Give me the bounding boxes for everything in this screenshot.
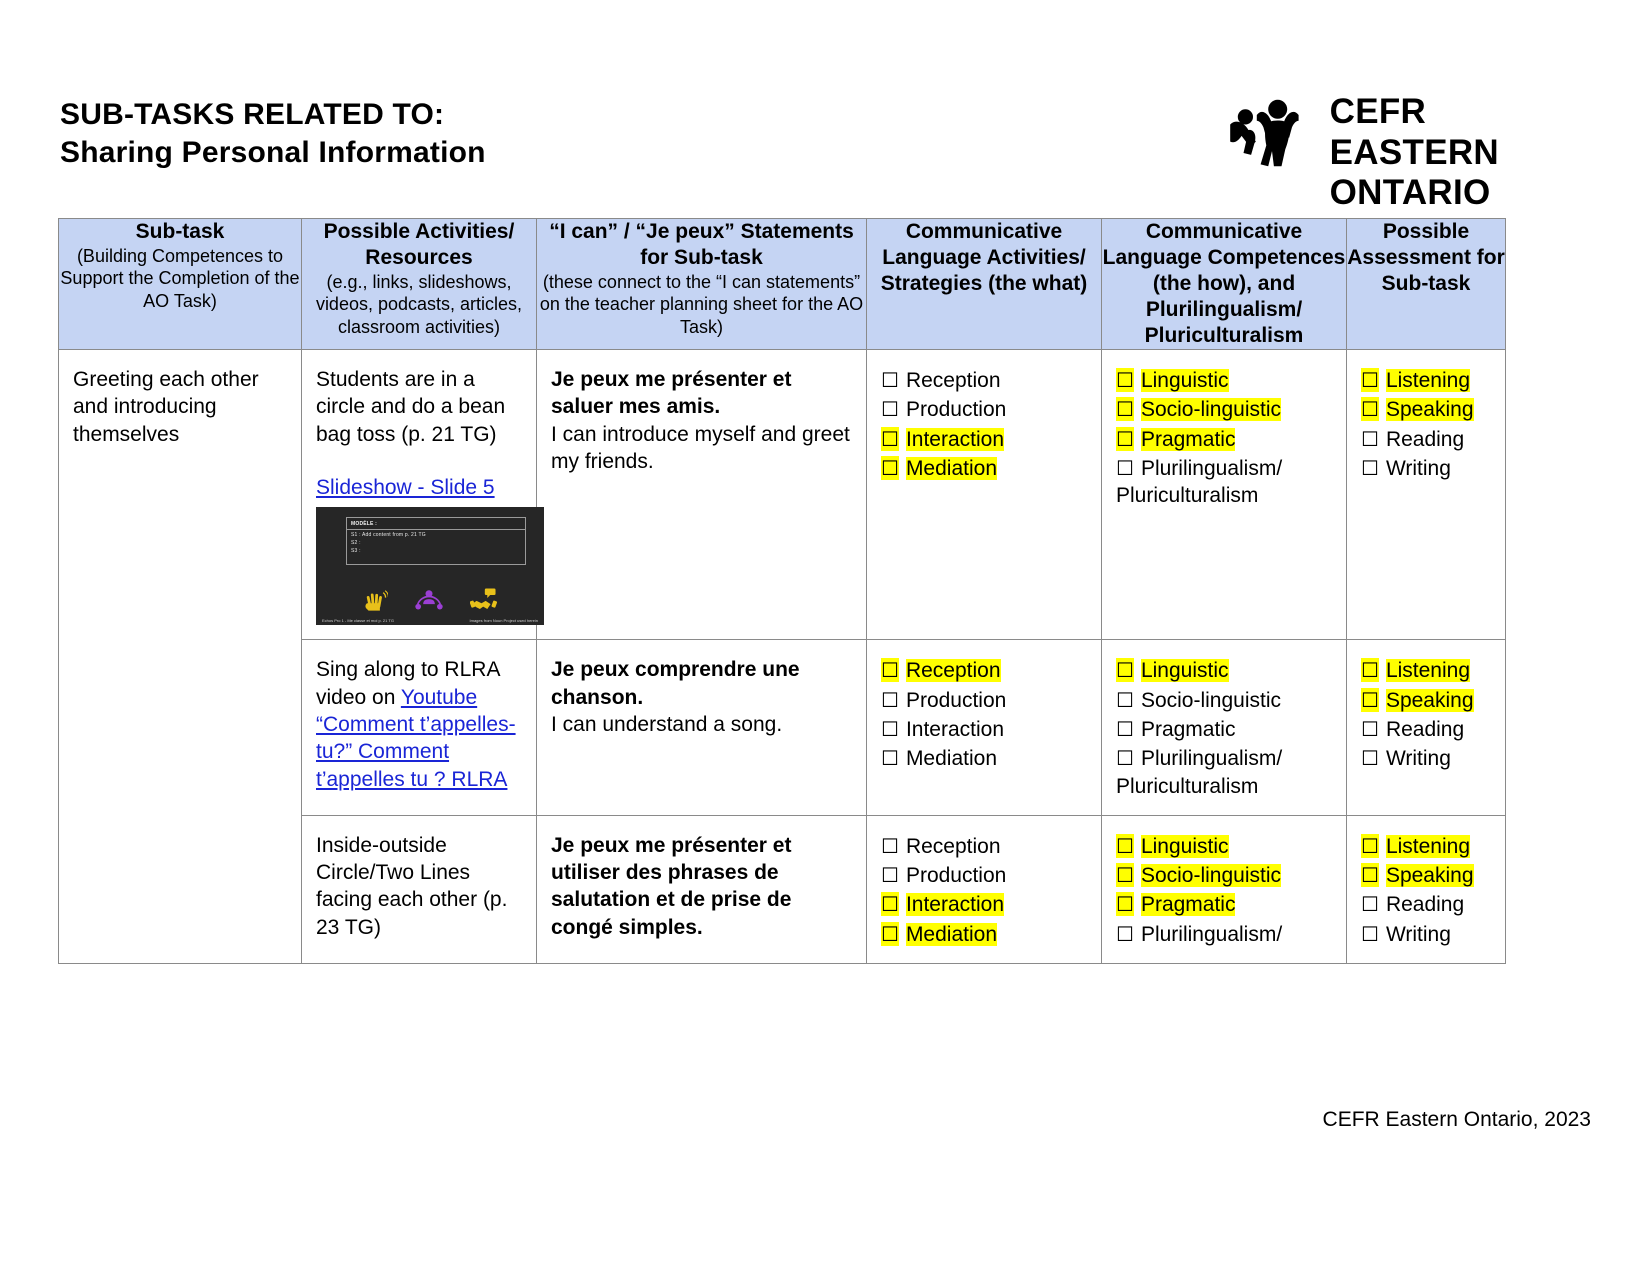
checkbox-label: Socio-linguistic	[1141, 398, 1281, 421]
checkbox-label: Plurilingualism/ Pluriculturalism	[1116, 457, 1282, 507]
checkbox-reading[interactable]: ☐Reading	[1361, 425, 1493, 454]
checkbox-label: Production	[906, 689, 1006, 712]
checkbox-label: Speaking	[1386, 864, 1474, 887]
checkbox-pragmatic[interactable]: ☐Pragmatic	[1116, 890, 1334, 919]
checkbox-speaking[interactable]: ☐Speaking	[1361, 861, 1493, 890]
document-page: SUB-TASKS RELATED TO: Sharing Personal I…	[0, 0, 1651, 1275]
checkbox-label: Interaction	[906, 718, 1004, 741]
checkbox-glyph: ☐	[881, 368, 899, 392]
checkbox-glyph: ☐	[1116, 746, 1134, 770]
activity-text: Sing along to RLRA video on Youtube “Com…	[316, 656, 524, 792]
slide-box-row-3: S3 :	[347, 546, 525, 554]
checkbox-label: Reading	[1386, 718, 1464, 741]
checkbox-socio-linguistic[interactable]: ☐Socio-linguistic	[1116, 395, 1334, 424]
statement-english: I can introduce myself and greet my frie…	[551, 421, 854, 476]
checkbox-writing[interactable]: ☐Writing	[1361, 744, 1493, 773]
checkbox-mediation[interactable]: ☐Mediation	[881, 454, 1089, 483]
checkbox-list: ☐Linguistic ☐Socio-linguistic ☐Pragmatic…	[1116, 366, 1334, 510]
checkbox-linguistic[interactable]: ☐Linguistic	[1116, 832, 1334, 861]
checkbox-glyph: ☐	[1116, 427, 1134, 451]
checkbox-glyph: ☐	[1361, 717, 1379, 741]
checkbox-label: Linguistic	[1141, 659, 1229, 682]
checkbox-glyph: ☐	[881, 717, 899, 741]
slide-footer-right: Images from Noun Project used herein	[470, 618, 538, 623]
checkbox-label: Linguistic	[1141, 369, 1229, 392]
statement-cell: Je peux me présenter et saluer mes amis.…	[537, 350, 867, 640]
brand-line-1: CEFR	[1330, 92, 1499, 133]
checkbox-label: Mediation	[906, 923, 997, 946]
checkbox-plurilingualism[interactable]: ☐Plurilingualism/ Pluriculturalism	[1116, 744, 1334, 801]
checkbox-socio-linguistic[interactable]: ☐Socio-linguistic	[1116, 861, 1334, 890]
subtask-text: Greeting each other and introducing them…	[73, 366, 289, 448]
checkbox-glyph: ☐	[1361, 922, 1379, 946]
language-competences-cell: ☐Linguistic ☐Socio-linguistic ☐Pragmatic…	[1102, 640, 1347, 815]
checkbox-label: Speaking	[1386, 398, 1474, 421]
statement-french: Je peux comprendre une chanson.	[551, 656, 854, 711]
checkbox-glyph: ☐	[881, 834, 899, 858]
page-title: SUB-TASKS RELATED TO: Sharing Personal I…	[60, 96, 486, 173]
checkbox-label: Listening	[1386, 369, 1470, 392]
brand-line-3: ONTARIO	[1330, 173, 1499, 214]
column-header-subtask: Sub-task (Building Competences to Suppor…	[59, 219, 302, 350]
checkbox-label: Plurilingualism/	[1141, 923, 1282, 946]
checkbox-production[interactable]: ☐Production	[881, 686, 1089, 715]
checkbox-list: ☐Reception ☐Production ☐Interaction ☐Med…	[881, 366, 1089, 483]
checkbox-production[interactable]: ☐Production	[881, 395, 1089, 424]
checkbox-list: ☐Listening ☐Speaking ☐Reading ☐Writing	[1361, 656, 1493, 773]
assessment-cell: ☐Listening ☐Speaking ☐Reading ☐Writing	[1347, 350, 1506, 640]
checkbox-list: ☐Listening ☐Speaking ☐Reading ☐Writing	[1361, 366, 1493, 483]
checkbox-glyph: ☐	[1361, 427, 1379, 451]
checkbox-list: ☐Reception ☐Production ☐Interaction ☐Med…	[881, 656, 1089, 773]
activity-cell: Sing along to RLRA video on Youtube “Com…	[302, 640, 537, 815]
title-line-1: SUB-TASKS RELATED TO:	[60, 96, 486, 134]
checkbox-glyph: ☐	[1116, 658, 1134, 682]
slide-box-row-1: S1 : Add content from p. 21 TG	[347, 530, 525, 538]
assessment-cell: ☐Listening ☐Speaking ☐Reading ☐Writing	[1347, 815, 1506, 963]
checkbox-writing[interactable]: ☐Writing	[1361, 454, 1493, 483]
checkbox-glyph: ☐	[1361, 863, 1379, 887]
checkbox-production[interactable]: ☐Production	[881, 861, 1089, 890]
column-header-assessment: Possible Assessment for Sub-task	[1347, 219, 1506, 350]
statement-french: Je peux me présenter et utiliser des phr…	[551, 832, 854, 941]
waving-hand-icon	[362, 587, 388, 613]
checkbox-plurilingualism[interactable]: ☐Plurilingualism/ Pluriculturalism	[1116, 454, 1334, 511]
checkbox-reading[interactable]: ☐Reading	[1361, 715, 1493, 744]
checkbox-mediation[interactable]: ☐Mediation	[881, 920, 1089, 949]
checkbox-glyph: ☐	[1116, 397, 1134, 421]
slide-box-row-2: S2 :	[347, 538, 525, 546]
checkbox-label: Reception	[906, 835, 1001, 858]
column-header-language-activities: Communicative Language Activities/ Strat…	[867, 219, 1102, 350]
checkbox-mediation[interactable]: ☐Mediation	[881, 744, 1089, 773]
checkbox-glyph: ☐	[1116, 368, 1134, 392]
checkbox-pragmatic[interactable]: ☐Pragmatic	[1116, 425, 1334, 454]
activity-text: Students are in a circle and do a bean b…	[316, 366, 524, 448]
checkbox-speaking[interactable]: ☐Speaking	[1361, 686, 1493, 715]
slide-box-header: MODÈLE :	[347, 518, 525, 530]
title-line-2: Sharing Personal Information	[60, 134, 486, 172]
checkbox-glyph: ☐	[1361, 746, 1379, 770]
checkbox-glyph: ☐	[1361, 688, 1379, 712]
checkbox-label: Pragmatic	[1141, 428, 1236, 451]
checkbox-glyph: ☐	[881, 922, 899, 946]
checkbox-linguistic[interactable]: ☐Linguistic	[1116, 656, 1334, 685]
checkbox-label: Listening	[1386, 835, 1470, 858]
brand-line-2: EASTERN	[1330, 133, 1499, 174]
slide-footer: Echos Pro 1 - Me classe et moi p. 21 TG …	[322, 618, 538, 623]
checkbox-glyph: ☐	[1116, 717, 1134, 741]
checkbox-plurilingualism[interactable]: ☐Plurilingualism/	[1116, 920, 1334, 949]
checkbox-list: ☐Linguistic ☐Socio-linguistic ☐Pragmatic…	[1116, 832, 1334, 949]
table-row: Greeting each other and introducing them…	[59, 350, 1506, 640]
checkbox-listening[interactable]: ☐Listening	[1361, 832, 1493, 861]
checkbox-glyph: ☐	[1361, 892, 1379, 916]
statement-cell: Je peux comprendre une chanson. I can un…	[537, 640, 867, 815]
checkbox-label: Pragmatic	[1141, 893, 1236, 916]
checkbox-glyph: ☐	[881, 397, 899, 421]
slideshow-thumbnail[interactable]: MODÈLE : S1 : Add content from p. 21 TG …	[316, 507, 544, 625]
column-header-title: Possible Assessment for Sub-task	[1347, 219, 1505, 297]
checkbox-reception[interactable]: ☐Reception	[881, 656, 1089, 685]
checkbox-label: Socio-linguistic	[1141, 689, 1281, 712]
checkbox-glyph: ☐	[1361, 397, 1379, 421]
checkbox-label: Interaction	[906, 893, 1004, 916]
checkbox-label: Writing	[1386, 747, 1451, 770]
activity-cell: Inside-outside Circle/Two Lines facing e…	[302, 815, 537, 963]
checkbox-list: ☐Reception ☐Production ☐Interaction ☐Med…	[881, 832, 1089, 949]
handshake-speech-icon	[470, 587, 498, 613]
checkbox-list: ☐Linguistic ☐Socio-linguistic ☐Pragmatic…	[1116, 656, 1334, 800]
column-header-title: “I can” / “Je peux” Statements for Sub-t…	[537, 219, 866, 271]
checkbox-glyph: ☐	[1116, 456, 1134, 480]
checkbox-glyph: ☐	[1116, 834, 1134, 858]
checkbox-glyph: ☐	[1116, 688, 1134, 712]
checkbox-label: Production	[906, 864, 1006, 887]
checkbox-label: Reception	[906, 369, 1001, 392]
checkbox-glyph: ☐	[881, 746, 899, 770]
checkbox-glyph: ☐	[881, 688, 899, 712]
checkbox-label: Mediation	[906, 747, 997, 770]
checkbox-label: Plurilingualism/ Pluriculturalism	[1116, 747, 1282, 797]
checkbox-glyph: ☐	[1361, 456, 1379, 480]
checkbox-glyph: ☐	[1116, 892, 1134, 916]
person-network-icon	[414, 587, 444, 613]
statement-french: Je peux me présenter et saluer mes amis.	[551, 366, 854, 421]
statement-english: I can understand a song.	[551, 711, 854, 738]
column-header-subtitle: (e.g., links, slideshows, videos, podcas…	[302, 271, 536, 338]
column-header-title: Communicative Language Competences (the …	[1102, 219, 1346, 349]
checkbox-label: Reading	[1386, 893, 1464, 916]
column-header-language-competences: Communicative Language Competences (the …	[1102, 219, 1347, 350]
slideshow-link[interactable]: Slideshow - Slide 5	[316, 474, 524, 501]
checkbox-glyph: ☐	[881, 658, 899, 682]
checkbox-pragmatic[interactable]: ☐Pragmatic	[1116, 715, 1334, 744]
checkbox-interaction[interactable]: ☐Interaction	[881, 425, 1089, 454]
checkbox-label: Writing	[1386, 457, 1451, 480]
language-competences-cell: ☐Linguistic ☐Socio-linguistic ☐Pragmatic…	[1102, 350, 1347, 640]
checkbox-label: Writing	[1386, 923, 1451, 946]
column-header-title: Sub-task	[59, 219, 301, 245]
activity-text: Inside-outside Circle/Two Lines facing e…	[316, 832, 524, 941]
column-header-title: Communicative Language Activities/ Strat…	[867, 219, 1101, 297]
checkbox-glyph: ☐	[881, 863, 899, 887]
checkbox-label: Production	[906, 398, 1006, 421]
subtask-cell: Greeting each other and introducing them…	[59, 350, 302, 964]
checkbox-label: Listening	[1386, 659, 1470, 682]
document-footer: CEFR Eastern Ontario, 2023	[1323, 1108, 1591, 1132]
column-header-statements: “I can” / “Je peux” Statements for Sub-t…	[537, 219, 867, 350]
checkbox-listening[interactable]: ☐Listening	[1361, 366, 1493, 395]
slide-text-box: MODÈLE : S1 : Add content from p. 21 TG …	[346, 517, 526, 565]
slide-footer-left: Echos Pro 1 - Me classe et moi p. 21 TG	[322, 618, 394, 623]
language-activities-cell: ☐Reception ☐Production ☐Interaction ☐Med…	[867, 815, 1102, 963]
column-header-activities: Possible Activities/ Resources (e.g., li…	[302, 219, 537, 350]
checkbox-label: Mediation	[906, 457, 997, 480]
checkbox-reception[interactable]: ☐Reception	[881, 366, 1089, 395]
language-activities-cell: ☐Reception ☐Production ☐Interaction ☐Med…	[867, 640, 1102, 815]
checkbox-reading[interactable]: ☐Reading	[1361, 890, 1493, 919]
two-people-arms-raised-icon	[1224, 96, 1320, 172]
checkbox-label: Linguistic	[1141, 835, 1229, 858]
checkbox-glyph: ☐	[881, 456, 899, 480]
subtasks-table: Sub-task (Building Competences to Suppor…	[58, 218, 1506, 964]
checkbox-glyph: ☐	[1361, 834, 1379, 858]
slide-icon-row	[316, 587, 544, 613]
assessment-cell: ☐Listening ☐Speaking ☐Reading ☐Writing	[1347, 640, 1506, 815]
checkbox-label: Reception	[906, 659, 1001, 682]
language-competences-cell: ☐Linguistic ☐Socio-linguistic ☐Pragmatic…	[1102, 815, 1347, 963]
checkbox-linguistic[interactable]: ☐Linguistic	[1116, 366, 1334, 395]
checkbox-glyph: ☐	[881, 892, 899, 916]
checkbox-list: ☐Listening ☐Speaking ☐Reading ☐Writing	[1361, 832, 1493, 949]
column-header-subtitle: (these connect to the “I can statements”…	[537, 271, 866, 338]
checkbox-label: Pragmatic	[1141, 718, 1236, 741]
checkbox-glyph: ☐	[1116, 863, 1134, 887]
checkbox-speaking[interactable]: ☐Speaking	[1361, 395, 1493, 424]
checkbox-label: Speaking	[1386, 689, 1474, 712]
checkbox-writing[interactable]: ☐Writing	[1361, 920, 1493, 949]
checkbox-interaction[interactable]: ☐Interaction	[881, 890, 1089, 919]
statement-cell: Je peux me présenter et utiliser des phr…	[537, 815, 867, 963]
activity-cell: Students are in a circle and do a bean b…	[302, 350, 537, 640]
column-header-subtitle: (Building Competences to Support the Com…	[59, 245, 301, 312]
checkbox-glyph: ☐	[1116, 922, 1134, 946]
brand-logo-block: CEFR EASTERN ONTARIO	[1224, 92, 1499, 214]
checkbox-reception[interactable]: ☐Reception	[881, 832, 1089, 861]
checkbox-label: Socio-linguistic	[1141, 864, 1281, 887]
column-header-title: Possible Activities/ Resources	[302, 219, 536, 271]
checkbox-glyph: ☐	[881, 427, 899, 451]
brand-wordmark: CEFR EASTERN ONTARIO	[1330, 92, 1499, 214]
table-header-row: Sub-task (Building Competences to Suppor…	[59, 219, 1506, 350]
checkbox-label: Reading	[1386, 428, 1464, 451]
checkbox-socio-linguistic[interactable]: ☐Socio-linguistic	[1116, 686, 1334, 715]
checkbox-glyph: ☐	[1361, 368, 1379, 392]
checkbox-interaction[interactable]: ☐Interaction	[881, 715, 1089, 744]
document-header: SUB-TASKS RELATED TO: Sharing Personal I…	[60, 96, 1591, 216]
checkbox-glyph: ☐	[1361, 658, 1379, 682]
checkbox-label: Interaction	[906, 428, 1004, 451]
language-activities-cell: ☐Reception ☐Production ☐Interaction ☐Med…	[867, 350, 1102, 640]
checkbox-listening[interactable]: ☐Listening	[1361, 656, 1493, 685]
